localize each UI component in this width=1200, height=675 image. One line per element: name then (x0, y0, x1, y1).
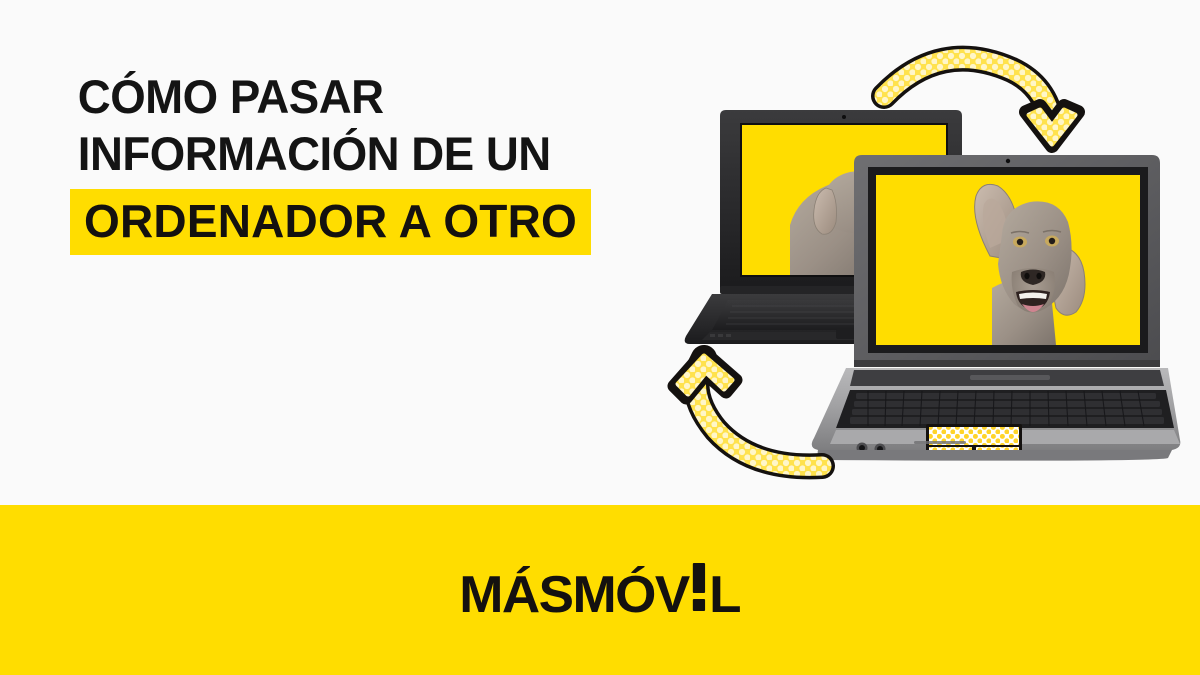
banner-canvas: CÓMO PASAR INFORMACIÓN DE UN ORDENADOR A… (0, 0, 1200, 675)
brand-band (0, 505, 1200, 675)
front-laptop-speaker-grille (970, 375, 1050, 380)
front-laptop-trackpad[interactable] (926, 424, 1022, 454)
laptop-new-silver (812, 155, 1181, 461)
headline-block: CÓMO PASAR INFORMACIÓN DE UN ORDENADOR A… (70, 68, 710, 255)
headline-line-1: CÓMO PASAR (70, 68, 691, 125)
headline-line-2: INFORMACIÓN DE UN (70, 125, 691, 182)
front-laptop-webcam (1006, 159, 1010, 163)
laptop-transfer-illustration (640, 20, 1200, 500)
arrow-transfer-bottom (674, 352, 822, 466)
headline-line-3-highlighted: ORDENADOR A OTRO (70, 189, 591, 255)
back-laptop-webcam (842, 115, 846, 119)
